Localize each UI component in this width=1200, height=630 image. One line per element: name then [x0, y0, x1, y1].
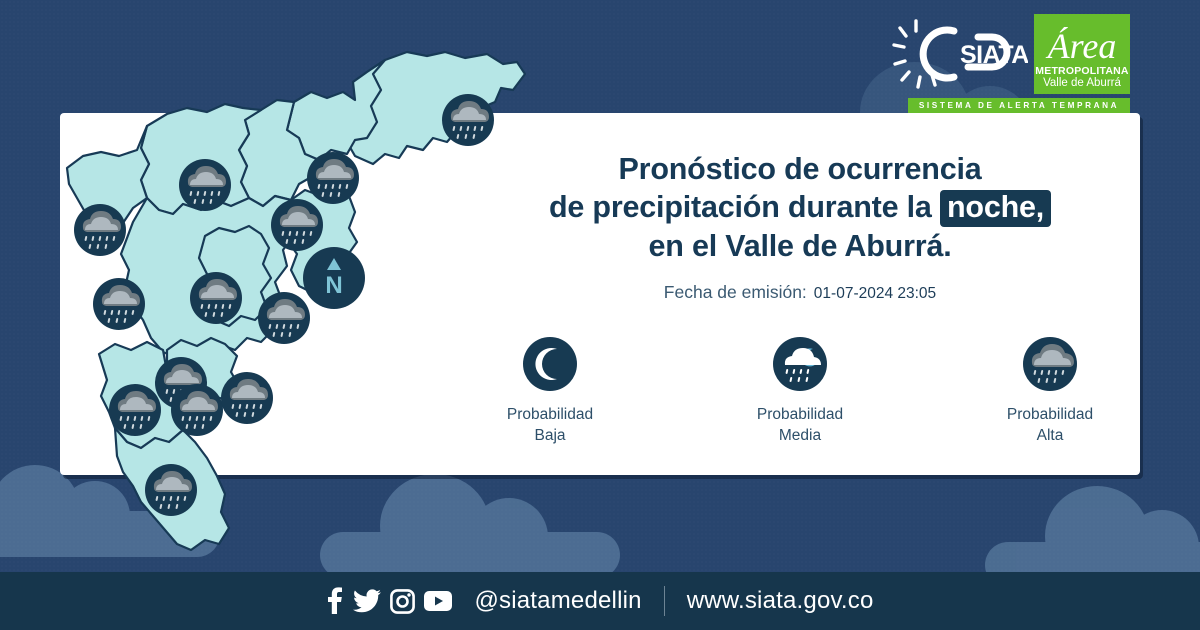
branding-header: SIATA Área METROPOLITANA Valle de Aburrá…: [892, 14, 1130, 113]
legend-item-baja: Probabilidad Baja: [480, 337, 620, 446]
probability-legend: Probabilidad Baja Proba: [480, 337, 1120, 446]
instagram-icon[interactable]: [390, 589, 415, 614]
title-line-2: de precipitación durante la noche,: [480, 188, 1120, 227]
legend-label-alta: Probabilidad Alta: [1007, 404, 1093, 446]
footer-divider: [664, 586, 665, 616]
highlight-noche: noche,: [940, 190, 1051, 227]
legend-label-line2: Baja: [507, 425, 593, 446]
weather-marker[interactable]: [307, 152, 359, 204]
siata-logo: SIATA: [892, 15, 1028, 93]
area-metropolitana-logo: Área METROPOLITANA Valle de Aburrá: [1034, 14, 1130, 94]
weather-marker[interactable]: [74, 204, 126, 256]
area-script-text: Área: [1046, 26, 1117, 66]
title-line-2-text: de precipitación durante la: [549, 190, 932, 224]
youtube-icon[interactable]: [424, 591, 452, 611]
legend-label-line1: Probabilidad: [507, 404, 593, 425]
forecast-text-block: Pronóstico de ocurrencia de precipitació…: [480, 150, 1120, 446]
tagline-bar: SISTEMA DE ALERTA TEMPRANA: [908, 98, 1130, 113]
logo-row: SIATA Área METROPOLITANA Valle de Aburrá: [892, 14, 1130, 94]
social-icons: [326, 587, 452, 615]
compass-rose: N: [303, 247, 365, 309]
sun-cloud-icon: SIATA: [892, 15, 1028, 93]
weather-marker[interactable]: [171, 384, 223, 436]
emission-label: Fecha de emisión:: [664, 282, 807, 303]
emission-date-row: Fecha de emisión: 01-07-2024 23:05: [480, 282, 1120, 303]
weather-marker[interactable]: [221, 372, 273, 424]
svg-text:SIATA: SIATA: [960, 41, 1028, 69]
valle-de-aburra-map: [55, 50, 535, 570]
title-line-3: en el Valle de Aburrá.: [480, 227, 1120, 265]
website-url[interactable]: www.siata.gov.co: [687, 587, 874, 615]
weather-marker[interactable]: [145, 464, 197, 516]
weather-marker[interactable]: [179, 159, 231, 211]
legend-label-line2: Media: [757, 425, 843, 446]
moon-icon: [523, 337, 577, 391]
weather-marker[interactable]: [109, 384, 161, 436]
area-line2: Valle de Aburrá: [1043, 77, 1121, 90]
weather-marker[interactable]: [442, 94, 494, 146]
cloud-heavy-rain-icon: [1023, 337, 1077, 391]
cloud-rain-moon-icon: [773, 337, 827, 391]
legend-label-line1: Probabilidad: [1007, 404, 1093, 425]
legend-item-alta: Probabilidad Alta: [980, 337, 1120, 446]
legend-label-media: Probabilidad Media: [757, 404, 843, 446]
legend-label-baja: Probabilidad Baja: [507, 404, 593, 446]
weather-marker[interactable]: [271, 199, 323, 251]
background-cloud-right: [985, 480, 1200, 570]
legend-label-line2: Alta: [1007, 425, 1093, 446]
footer-bar: @siatamedellin www.siata.gov.co: [0, 572, 1200, 630]
page-title: Pronóstico de ocurrencia de precipitació…: [480, 150, 1120, 265]
social-handle[interactable]: @siatamedellin: [474, 587, 641, 615]
emission-value: 01-07-2024 23:05: [814, 285, 936, 303]
weather-marker[interactable]: [190, 272, 242, 324]
compass-label: N: [325, 272, 342, 299]
legend-label-line1: Probabilidad: [757, 404, 843, 425]
legend-item-media: Probabilidad Media: [730, 337, 870, 446]
weather-marker[interactable]: [93, 278, 145, 330]
facebook-icon[interactable]: [326, 587, 344, 615]
title-line-1: Pronóstico de ocurrencia: [480, 150, 1120, 188]
twitter-icon[interactable]: [353, 589, 381, 613]
area-script-icon: Área: [1034, 18, 1130, 70]
